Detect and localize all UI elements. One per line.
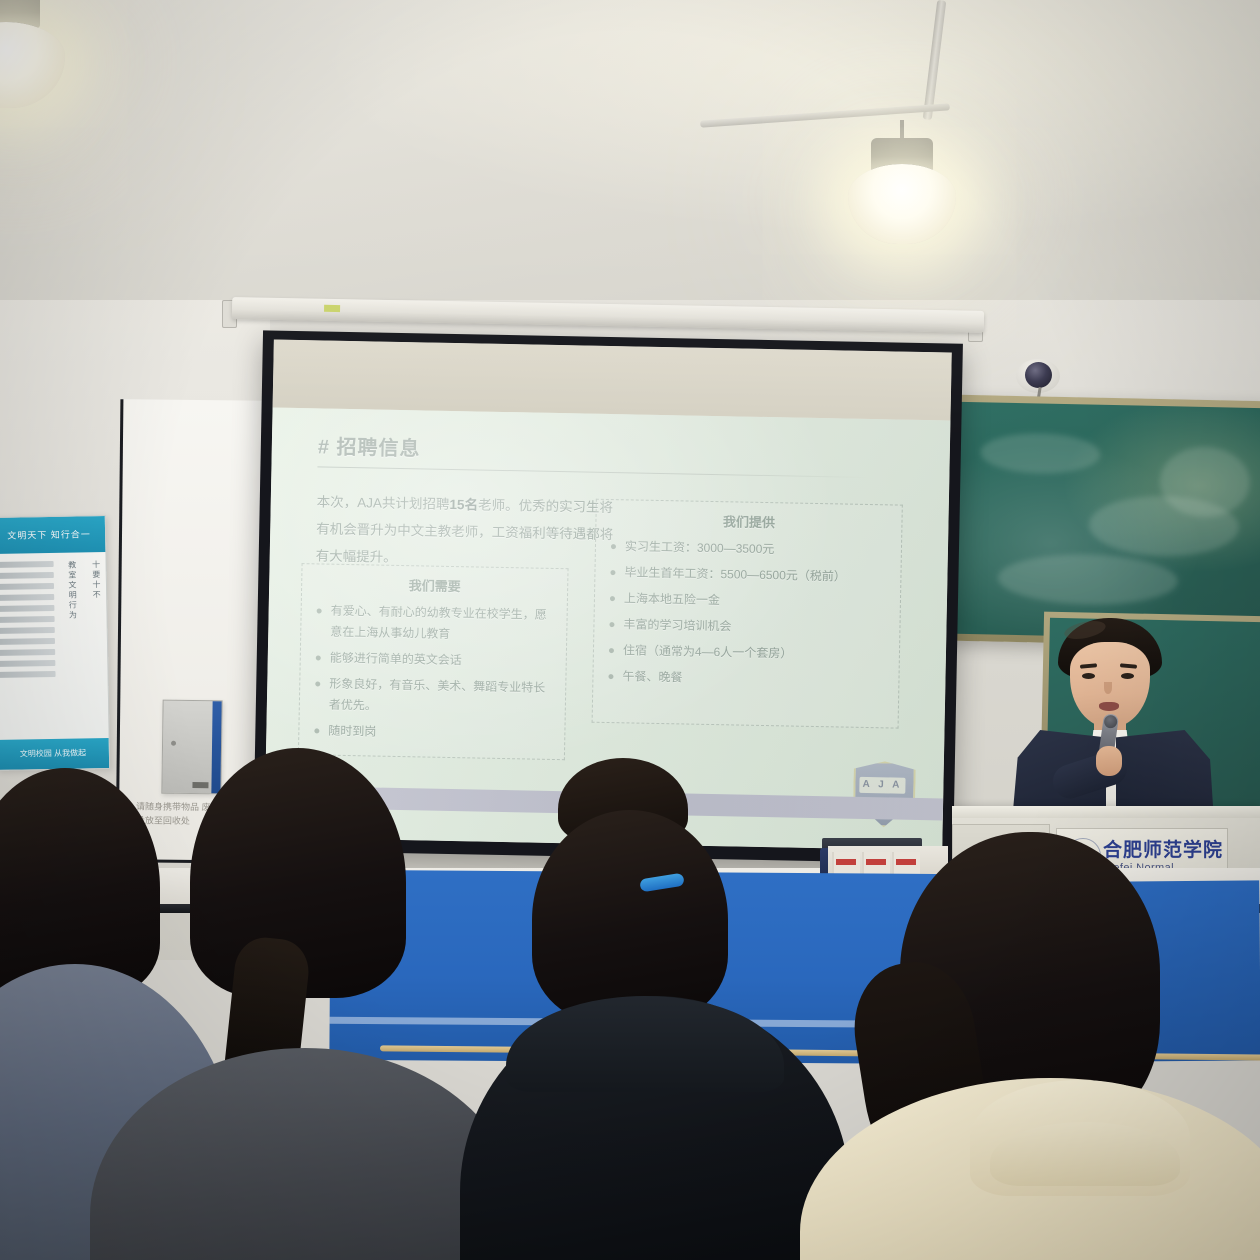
list-item: 上海本地五险一金 <box>609 588 888 614</box>
student-hood <box>506 996 784 1092</box>
poster-body: 教室文明行为 十要十不 <box>0 560 105 736</box>
poster-header: 文明天下 知行合一 <box>0 516 105 554</box>
intro-text-part1: 本次，AJA共计划招聘 <box>317 494 450 512</box>
student-hair <box>532 810 728 1025</box>
list-item: 实习生工资：3000—3500元 <box>610 536 889 562</box>
security-camera-icon <box>1016 357 1060 397</box>
camera-lens <box>1025 362 1052 388</box>
benefits-list: 实习生工资：3000—3500元 毕业生首年工资：5500—6500元（税前） … <box>593 536 901 706</box>
presenter-mouth <box>1099 702 1119 711</box>
poster-header-text: 文明天下 知行合一 <box>0 516 105 554</box>
student-cream-hoodie <box>840 832 1260 1260</box>
panel-benefits-heading: 我们提供 <box>596 509 901 534</box>
ceiling-light-falloff <box>0 0 1260 330</box>
presenter-nose <box>1104 682 1112 694</box>
title-divider <box>317 466 867 478</box>
presenter-eye-left <box>1082 673 1095 679</box>
poster-footer: 文明校园 从我做起 <box>0 738 109 770</box>
poster-vertical-title-1: 教室文明行为 <box>58 561 81 735</box>
shield-letters: A J A <box>859 777 905 794</box>
panel-indicator <box>171 741 176 746</box>
list-item: 有爱心、有耐心的幼教专业在校学生，愿意在上海从事幼儿教育 <box>315 600 555 647</box>
screen-top-band <box>273 340 952 421</box>
classroom-photo: 文明天下 知行合一 教室文明行为 十要十不 文明校园 从我做起 请随身携带物品 … <box>0 0 1260 1260</box>
lectern-top-edge <box>952 806 1260 818</box>
poster-footer-text: 文明校园 从我做起 <box>0 738 109 770</box>
student-ponytail <box>150 748 450 1260</box>
chalkboard-upper <box>949 395 1260 648</box>
chalkboard-surface <box>957 402 1260 640</box>
list-item: 住宿（通常为4—6人一个套房） <box>608 640 887 666</box>
list-item: 形象良好，有音乐、美术、舞蹈专业特长者优先。 <box>314 673 554 720</box>
list-item: 丰富的学习培训机会 <box>608 614 887 640</box>
list-item: 随时到岗 <box>313 720 552 746</box>
slide-intro-paragraph: 本次，AJA共计划招聘15名老师。优秀的实习生将有机会晋升为中文主教老师，工资福… <box>315 488 616 575</box>
presenter <box>1000 618 1222 818</box>
classroom-rules-poster: 文明天下 知行合一 教室文明行为 十要十不 文明校园 从我做起 <box>0 515 110 771</box>
panel-benefits: 我们提供 实习生工资：3000—3500元 毕业生首年工资：5500—6500元… <box>592 499 903 729</box>
student-bun-black-hoodie <box>480 758 810 1260</box>
list-item: 能够进行简单的英文会话 <box>315 647 554 673</box>
list-item: 午餐、晚餐 <box>607 666 886 692</box>
housing-sticker <box>324 305 340 312</box>
panel-requirements: 我们需要 有爱心、有耐心的幼教专业在校学生，愿意在上海从事幼儿教育 能够进行简单… <box>298 563 569 760</box>
presenter-eye-right <box>1121 673 1134 679</box>
panel-requirements-heading: 我们需要 <box>302 573 567 597</box>
list-item: 毕业生首年工资：5500—6500元（税前） <box>609 562 888 588</box>
presenter-hand <box>1096 746 1122 776</box>
poster-rule-lines <box>0 561 57 736</box>
intro-highlight-count: 15名 <box>449 497 478 513</box>
poster-vertical-title-2: 十要十不 <box>82 560 105 734</box>
requirements-list: 有爱心、有耐心的幼教专业在校学生，愿意在上海从事幼儿教育 能够进行简单的英文会话… <box>299 600 567 759</box>
student-shoulders <box>90 1048 520 1260</box>
slide-title: # 招聘信息 <box>318 430 421 461</box>
